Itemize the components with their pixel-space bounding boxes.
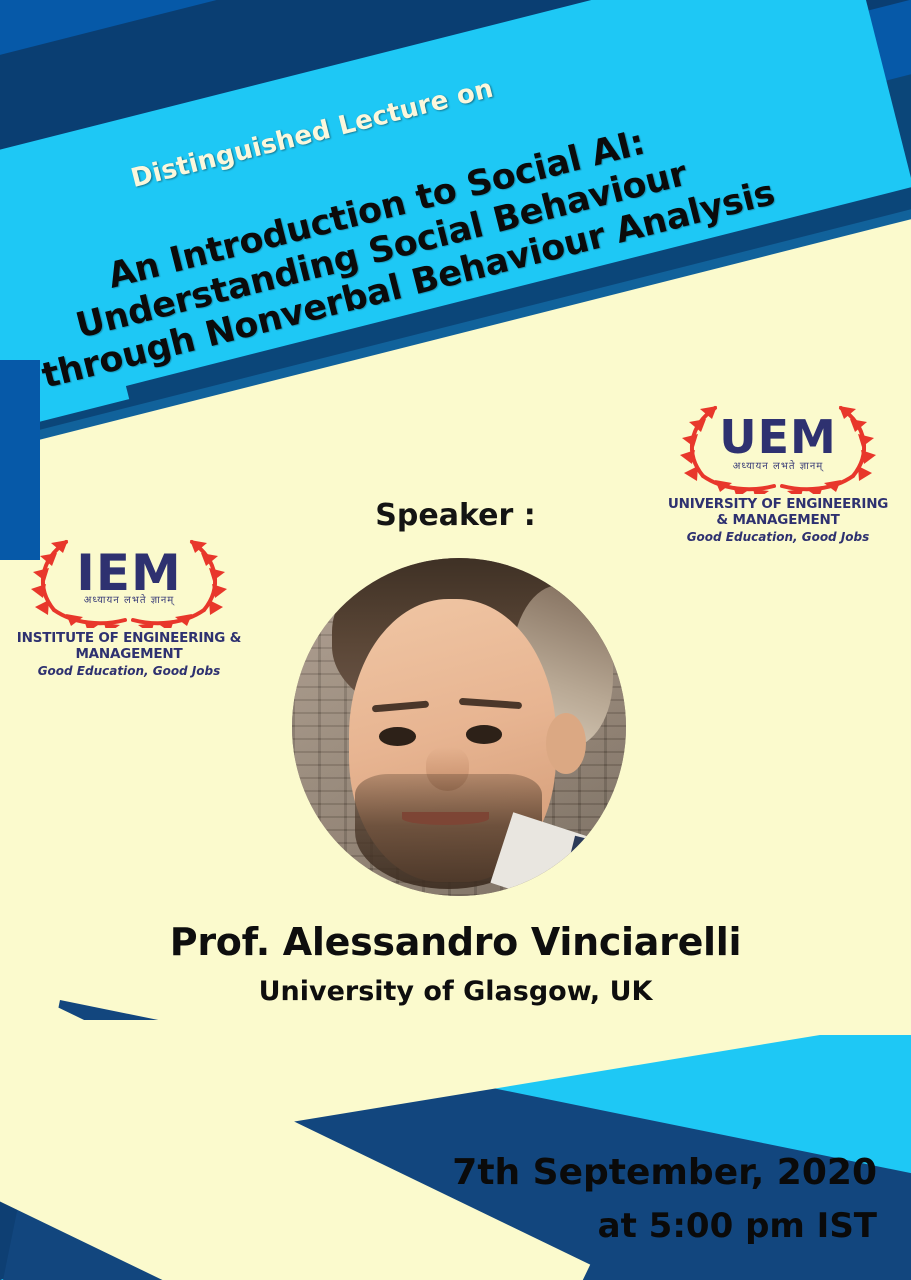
uem-wreath-wrap: UEM अध्यायन लभते ज्ञानम् (662, 398, 894, 494)
speaker-label: Speaker : (0, 498, 911, 533)
uem-mark: UEM (662, 410, 894, 464)
photo-eye-right (466, 725, 503, 744)
event-time: at 5:00 pm IST (598, 1206, 877, 1246)
event-date: 7th September, 2020 (452, 1152, 877, 1193)
photo-mouth (402, 812, 489, 826)
iem-full-name: INSTITUTE OF ENGINEERING & MANAGEMENT (8, 630, 250, 662)
speaker-portrait-photo (292, 558, 626, 896)
speaker-affiliation: University of Glasgow, UK (0, 976, 911, 1007)
speaker-name: Prof. Alessandro Vinciarelli (0, 920, 911, 964)
iem-logo: IEM अध्यायन लभते ज्ञानम् INSTITUTE OF EN… (8, 532, 250, 678)
uem-sanskrit-motto: अध्यायन लभते ज्ञानम् (662, 458, 894, 472)
iem-wreath-wrap: IEM अध्यायन लभते ज्ञानम् (8, 532, 250, 628)
photo-ear (546, 713, 586, 774)
event-poster: Distinguished Lecture on An Introduction… (0, 0, 911, 1280)
iem-tagline: Good Education, Good Jobs (8, 664, 250, 678)
photo-eye-left (379, 727, 416, 746)
iem-sanskrit-motto: अध्यायन लभते ज्ञानम् (8, 592, 250, 606)
